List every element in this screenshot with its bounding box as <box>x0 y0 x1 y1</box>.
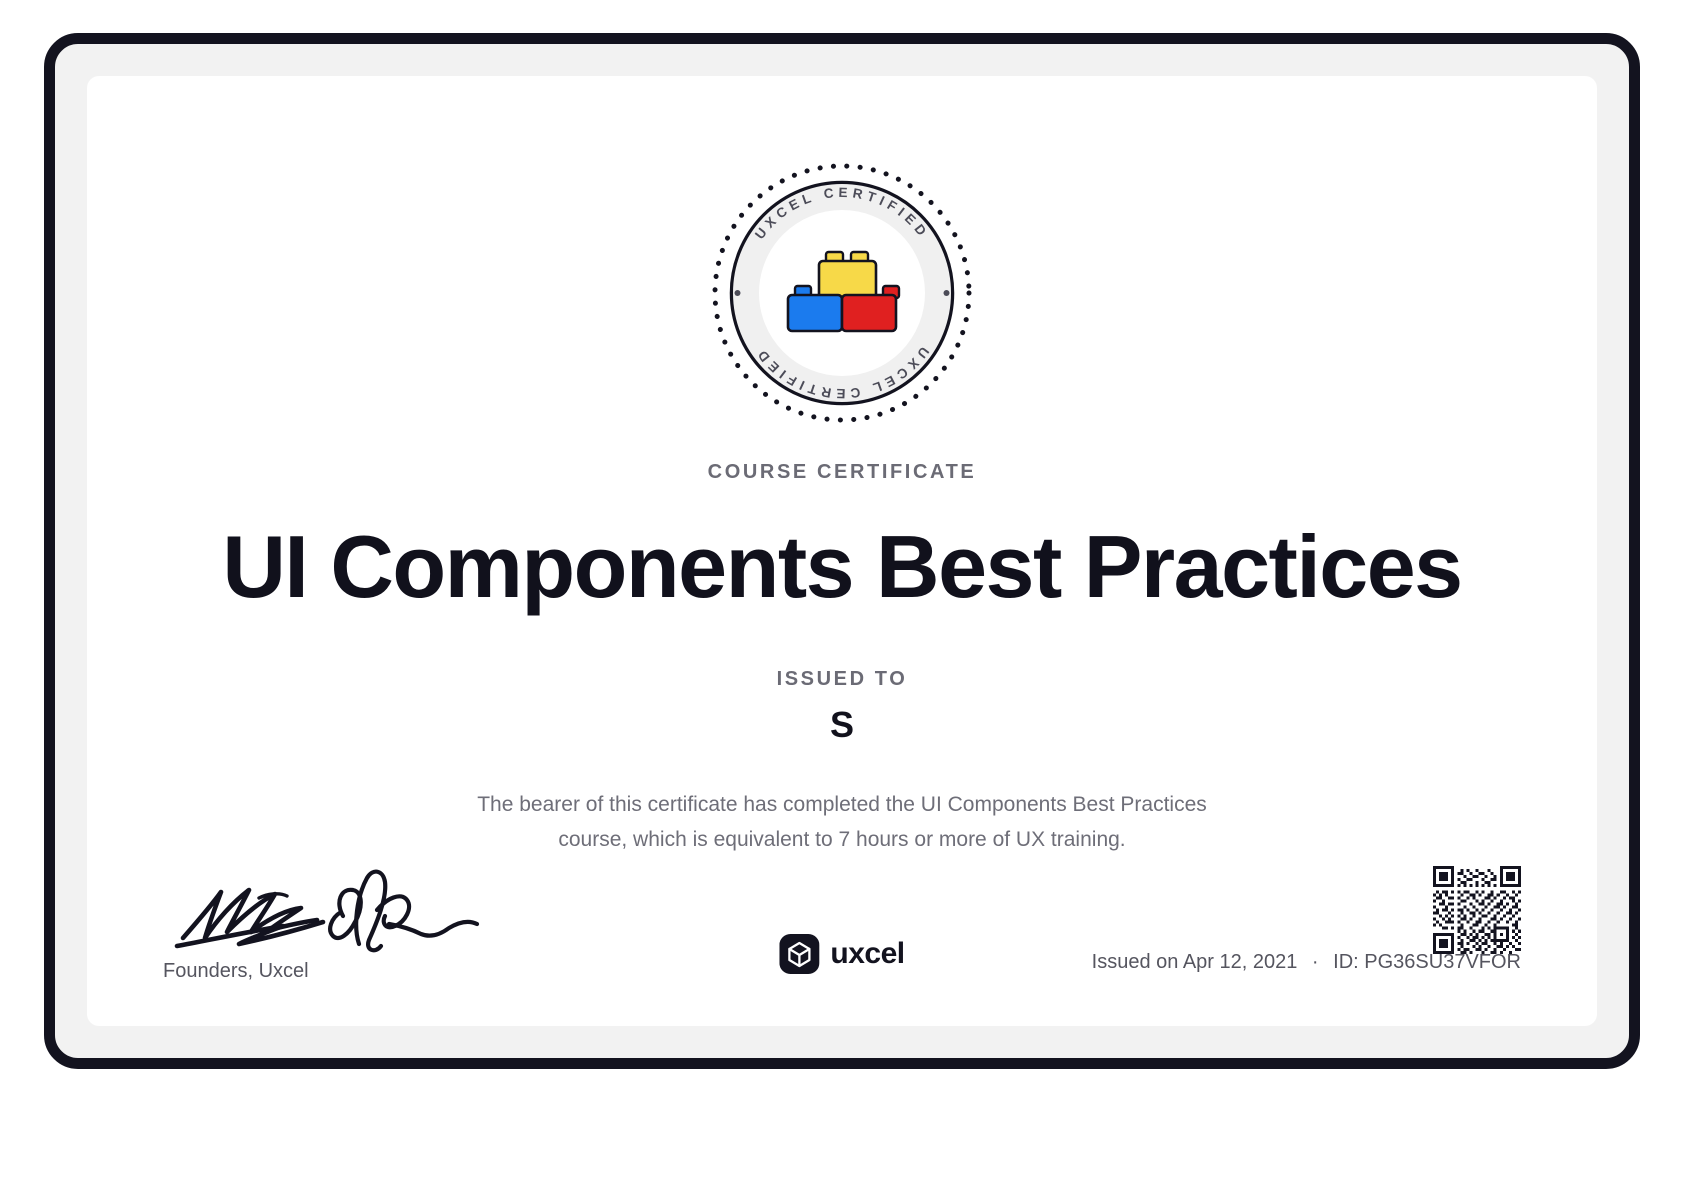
recipient-name: S <box>87 704 1597 746</box>
issued-on-date: Issued on Apr 12, 2021 <box>1092 951 1298 973</box>
uxcel-cube-icon <box>779 934 819 974</box>
issuance-info: Issued on Apr 12, 2021 · ID: PG36SU37VFO… <box>1092 951 1521 974</box>
issued-to-label: ISSUED TO <box>87 668 1597 691</box>
seal-separator-dot-left <box>735 290 741 296</box>
certificate-frame: UXCEL CERTIFIED UXCEL CERTIFIED <box>44 33 1640 1069</box>
signature-caption: Founders, Uxcel <box>163 960 493 983</box>
verification-qr-code[interactable] <box>1433 866 1521 954</box>
certificate-id: ID: PG36SU37VFOR <box>1333 951 1521 973</box>
seal-separator-dot-right <box>944 290 950 296</box>
founder-signature-one-icon <box>163 868 493 956</box>
uxcel-wordmark: uxcel <box>830 937 904 971</box>
signature-block: Founders, Uxcel <box>163 868 493 983</box>
certificate-description: The bearer of this certificate has compl… <box>447 788 1237 857</box>
course-title: UI Components Best Practices <box>87 519 1597 614</box>
founder-signature-two-icon <box>330 872 477 951</box>
certificate-card: UXCEL CERTIFIED UXCEL CERTIFIED <box>87 76 1597 1026</box>
course-certificate-label: COURSE CERTIFICATE <box>87 461 1597 484</box>
uxcel-logo: uxcel <box>779 934 904 974</box>
issuance-separator: · <box>1312 951 1319 973</box>
certification-seal: UXCEL CERTIFIED UXCEL CERTIFIED <box>707 158 977 428</box>
signature-images <box>163 868 493 956</box>
